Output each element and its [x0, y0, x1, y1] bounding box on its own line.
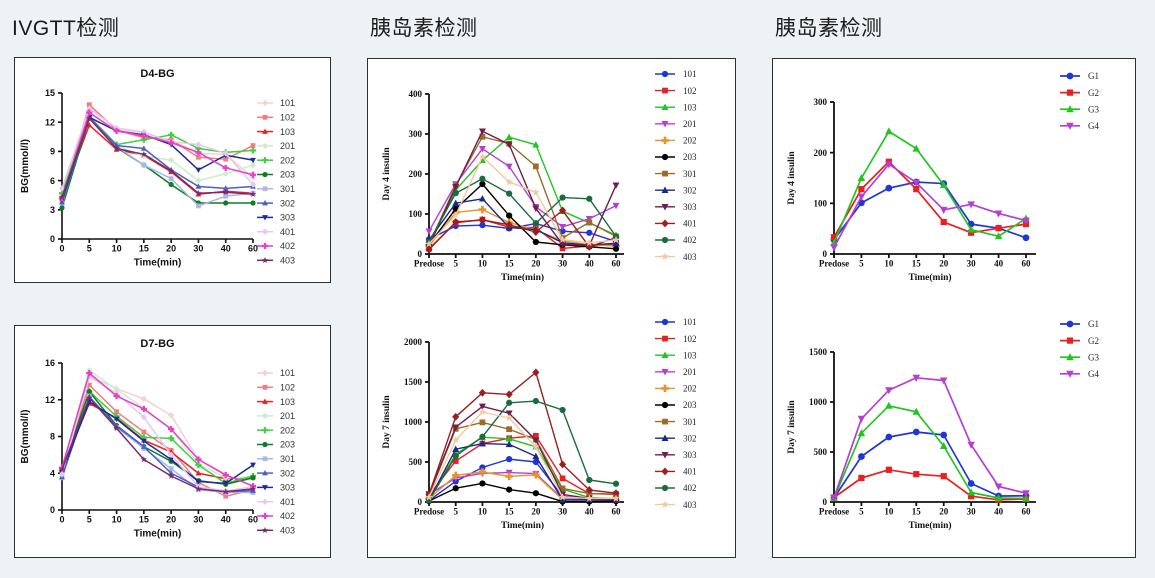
series-line: [834, 432, 1026, 498]
series-marker: [559, 407, 565, 413]
y-axis-tick: 6: [50, 176, 55, 186]
legend-marker: [661, 385, 668, 392]
legend-marker: [262, 427, 268, 433]
series-marker: [506, 190, 512, 196]
y-axis-tick: 8: [50, 432, 55, 442]
legend-marker: [263, 385, 268, 390]
series-marker: [913, 186, 919, 192]
x-axis-tick: 15: [912, 259, 922, 269]
y-axis-title: BG(mmol/l): [20, 139, 31, 193]
legend-label[interactable]: 101: [280, 368, 295, 378]
series-marker: [223, 165, 229, 171]
legend-marker: [662, 402, 668, 408]
legend-marker: [262, 243, 268, 249]
legend-label[interactable]: 203: [683, 152, 697, 162]
y-axis-tick: 0: [50, 234, 55, 244]
chart-day4-insulin-group: 0100200300Predose5101520304060Time(min)D…: [772, 58, 1136, 308]
legend-label[interactable]: 302: [280, 468, 295, 478]
legend-label[interactable]: 403: [683, 500, 697, 510]
legend-label[interactable]: 301: [683, 417, 697, 427]
legend-marker: [1067, 73, 1074, 80]
y-axis-title: Day 7 insulin: [382, 395, 392, 449]
x-axis-tick: 20: [939, 259, 949, 269]
legend-label[interactable]: 302: [683, 433, 697, 443]
x-axis-tick: 15: [139, 515, 149, 525]
legend-label[interactable]: 203: [280, 170, 295, 180]
x-axis-tick: 15: [912, 507, 922, 517]
legend-label[interactable]: G3: [1088, 104, 1099, 114]
chart-d7-bg: D7-BG048121605101520304060Time(min)BG(mm…: [14, 325, 331, 558]
series-marker: [913, 471, 919, 477]
legend-marker: [662, 336, 668, 342]
legend-marker: [263, 456, 268, 461]
y-axis-tick: 12: [45, 117, 55, 127]
series-marker: [505, 473, 512, 480]
y-axis-tick: 16: [45, 358, 55, 368]
series-marker: [886, 467, 892, 473]
legend-label[interactable]: 102: [280, 383, 295, 393]
legend-label[interactable]: 303: [683, 450, 697, 460]
x-axis-tick: 5: [859, 507, 864, 517]
series-marker: [858, 475, 864, 481]
x-axis-tick: 30: [558, 507, 568, 517]
legend-marker: [1067, 337, 1073, 343]
x-axis-tick: 10: [884, 507, 894, 517]
x-axis-tick: Predose: [819, 507, 849, 517]
legend-label[interactable]: 303: [280, 483, 295, 493]
x-axis-tick: Predose: [819, 259, 849, 269]
series-marker: [858, 416, 866, 423]
y-axis-title: Day 7 insulin: [787, 400, 797, 454]
series-marker: [613, 182, 620, 188]
legend-label[interactable]: 401: [280, 227, 295, 237]
legend-label[interactable]: 101: [280, 98, 295, 108]
legend-label[interactable]: 202: [280, 155, 295, 165]
legend-label[interactable]: 302: [280, 198, 295, 208]
legend-marker: [262, 228, 268, 235]
x-axis-title: Time(min): [134, 258, 182, 269]
x-axis-tick: 30: [193, 515, 203, 525]
series-marker: [141, 430, 146, 435]
series-marker: [885, 402, 893, 409]
series-marker: [169, 182, 174, 187]
x-axis-tick: 5: [453, 507, 458, 517]
legend-label[interactable]: 403: [280, 256, 295, 266]
x-axis-tick: 20: [166, 244, 176, 254]
y-axis-tick: 15: [45, 88, 55, 98]
legend-label[interactable]: 101: [683, 317, 697, 327]
legend-label[interactable]: G4: [1088, 121, 1099, 131]
x-axis-tick: 20: [166, 515, 176, 525]
series-marker: [506, 486, 512, 492]
series-line: [62, 402, 253, 484]
series-marker: [940, 207, 948, 214]
legend-label[interactable]: 401: [683, 467, 697, 477]
series-marker: [586, 220, 592, 226]
series-marker: [560, 476, 566, 482]
series-marker: [506, 212, 512, 218]
series-marker: [479, 176, 485, 182]
x-axis-tick: 10: [112, 244, 122, 254]
series-marker: [223, 200, 228, 205]
series-marker: [885, 185, 892, 192]
column-title-insulin-individual: 胰岛素检测: [370, 12, 478, 42]
series-marker: [223, 170, 229, 177]
legend-marker: [662, 485, 668, 491]
chart-d4-bg: D4-BG0369121505101520304060Time(min)BG(m…: [14, 57, 331, 283]
series-marker: [250, 200, 255, 205]
legend-marker: [1067, 321, 1074, 328]
series-marker: [250, 158, 256, 163]
x-axis-tick: 10: [478, 259, 488, 269]
legend-marker: [662, 319, 668, 325]
x-axis-tick: 10: [112, 515, 122, 525]
legend-marker: [661, 253, 669, 260]
series-marker: [913, 145, 921, 152]
x-axis-tick: Predose: [414, 507, 444, 517]
y-axis-tick: 300: [814, 97, 828, 107]
legend-label[interactable]: 402: [683, 483, 697, 493]
series-marker: [613, 481, 619, 487]
series-marker: [506, 426, 512, 432]
x-axis-tick: 5: [87, 244, 92, 254]
series-marker: [858, 453, 865, 460]
series-marker: [941, 219, 947, 225]
series-marker: [479, 195, 486, 201]
legend-marker: [262, 498, 268, 505]
legend-label[interactable]: 102: [683, 86, 697, 96]
series-marker: [479, 206, 486, 213]
x-axis-tick: 10: [884, 259, 894, 269]
legend-marker: [263, 115, 268, 120]
legend-marker: [662, 237, 668, 243]
x-axis-tick: 10: [478, 507, 488, 517]
x-axis-tick: 15: [505, 507, 514, 517]
y-axis-tick: 1500: [809, 347, 828, 357]
legend-label[interactable]: 103: [280, 127, 295, 137]
x-axis-tick: 20: [531, 259, 541, 269]
series-marker: [250, 463, 256, 468]
x-axis-tick: 40: [221, 244, 231, 254]
legend-label[interactable]: 202: [280, 425, 295, 435]
legend-label[interactable]: 403: [280, 526, 295, 536]
y-axis-tick: 12: [45, 395, 55, 405]
legend-label[interactable]: 102: [280, 113, 295, 123]
y-axis-tick: 9: [50, 147, 55, 157]
chart-title: D4-BG: [140, 68, 174, 80]
legend-label[interactable]: G4: [1088, 369, 1099, 379]
series-marker: [480, 420, 486, 426]
y-axis-title: Day 4 insulin: [787, 151, 797, 205]
y-axis-tick: 500: [409, 457, 423, 467]
legend-label[interactable]: 301: [683, 169, 697, 179]
series-marker: [533, 164, 539, 170]
legend-label[interactable]: 201: [280, 411, 295, 421]
series-marker: [168, 132, 174, 138]
series-marker: [613, 246, 619, 252]
series-marker: [533, 239, 539, 245]
legend-marker: [262, 172, 267, 177]
series-marker: [533, 398, 539, 404]
legend-marker: [661, 219, 668, 227]
series-marker: [858, 186, 864, 192]
x-axis-tick: 60: [612, 259, 622, 269]
legend-label[interactable]: 301: [280, 454, 295, 464]
legend-marker: [662, 154, 668, 160]
series-marker: [941, 473, 947, 479]
legend-marker: [262, 513, 268, 519]
legend-marker: [662, 88, 668, 94]
chart-day7-insulin-group: 050010001500Predose5101520304060Time(min…: [772, 308, 1136, 558]
x-axis-tick: 30: [967, 259, 977, 269]
y-axis-title: Day 4 insulin: [382, 147, 392, 201]
legend-label[interactable]: 103: [683, 350, 697, 360]
column-title-ivgtt: IVGTT检测: [12, 12, 119, 42]
chart-day4-insulin-all: 0100200300400Predose5101520304060Time(mi…: [367, 58, 736, 308]
legend-marker: [262, 413, 268, 420]
legend-label[interactable]: G2: [1088, 88, 1099, 98]
legend-marker: [662, 171, 668, 177]
legend-label[interactable]: 403: [683, 252, 697, 262]
x-axis-title: Time(min): [134, 529, 182, 540]
x-axis-tick: 5: [87, 515, 92, 525]
column-title-insulin-group: 胰岛素检测: [775, 12, 883, 42]
x-axis-title: Time(min): [501, 520, 544, 531]
x-axis-tick: 30: [558, 259, 568, 269]
x-axis-tick: 40: [994, 259, 1004, 269]
series-marker: [453, 453, 459, 459]
x-axis-tick: 20: [939, 507, 949, 517]
series-marker: [87, 389, 92, 394]
legend-marker: [262, 257, 268, 263]
legend-marker: [661, 467, 668, 475]
legend-label[interactable]: 101: [683, 69, 697, 79]
legend-label[interactable]: 401: [280, 497, 295, 507]
y-axis-tick: 100: [409, 209, 423, 219]
legend-marker: [262, 527, 268, 533]
legend-label[interactable]: 202: [683, 136, 697, 146]
series-marker: [533, 490, 539, 496]
legend-label[interactable]: 301: [280, 184, 295, 194]
legend-label[interactable]: 302: [683, 185, 697, 195]
legend-marker: [1067, 89, 1073, 95]
legend-label[interactable]: 402: [280, 241, 295, 251]
series-marker: [586, 477, 592, 483]
legend-label[interactable]: 203: [280, 440, 295, 450]
x-axis-tick: 30: [967, 507, 977, 517]
x-axis-tick: 60: [612, 507, 622, 517]
x-axis-title: Time(min): [908, 520, 951, 531]
series-marker: [559, 194, 565, 200]
legend-label[interactable]: 201: [683, 367, 697, 377]
legend-label[interactable]: 402: [280, 511, 295, 521]
series-marker: [968, 480, 975, 487]
y-axis-tick: 200: [814, 148, 828, 158]
series-marker: [196, 155, 201, 160]
legend-marker: [262, 100, 268, 107]
legend-label[interactable]: G3: [1088, 352, 1099, 362]
series-marker: [479, 480, 485, 486]
x-axis-title: Time(min): [908, 272, 951, 283]
legend-marker: [662, 71, 668, 77]
series-marker: [885, 434, 892, 441]
x-axis-title: Time(min): [501, 272, 544, 283]
series-marker: [1023, 234, 1030, 241]
legend-marker: [263, 186, 268, 191]
series-marker: [250, 147, 256, 153]
chart-day7-insulin-all: 0500100015002000Predose5101520304060Time…: [367, 308, 736, 558]
legend-label[interactable]: 303: [280, 213, 295, 223]
x-axis-tick: 60: [1022, 259, 1032, 269]
x-axis-tick: 60: [248, 515, 258, 525]
legend-label[interactable]: G1: [1088, 71, 1099, 81]
series-marker: [453, 485, 459, 491]
legend-label[interactable]: 103: [280, 397, 295, 407]
series-marker: [250, 475, 255, 480]
series-marker: [453, 190, 459, 196]
series-marker: [533, 220, 539, 226]
series-marker: [940, 432, 947, 439]
x-axis-tick: 40: [585, 259, 595, 269]
legend-label[interactable]: 201: [280, 141, 295, 151]
y-axis-tick: 100: [814, 199, 828, 209]
x-axis-tick: 20: [531, 507, 541, 517]
x-axis-tick: 15: [139, 244, 149, 254]
series-marker: [532, 188, 540, 195]
series-marker: [141, 396, 147, 403]
series-marker: [195, 149, 201, 155]
x-axis-tick: 40: [994, 507, 1004, 517]
series-marker: [426, 228, 433, 234]
x-axis-tick: 0: [59, 244, 64, 254]
series-marker: [506, 456, 512, 462]
series-marker: [586, 196, 592, 202]
x-axis-tick: 60: [248, 244, 258, 254]
series-marker: [913, 429, 920, 436]
series-marker: [479, 434, 485, 440]
legend-label[interactable]: G2: [1088, 336, 1099, 346]
series-marker: [586, 230, 592, 236]
series-marker: [59, 205, 64, 210]
series-marker: [169, 176, 174, 181]
y-axis-tick: 400: [409, 89, 423, 99]
x-axis-tick: Predose: [414, 259, 444, 269]
legend-marker: [661, 501, 669, 508]
series-marker: [196, 204, 201, 209]
x-axis-tick: 30: [193, 244, 203, 254]
y-axis-tick: 0: [50, 505, 55, 515]
legend-marker: [262, 143, 268, 150]
series-marker: [858, 194, 866, 201]
series-marker: [830, 244, 838, 251]
series-marker: [995, 225, 1001, 231]
y-axis-tick: 1000: [809, 397, 828, 407]
legend-marker: [661, 137, 668, 144]
series-marker: [251, 143, 256, 148]
series-marker: [196, 168, 202, 173]
x-axis-tick: 60: [1022, 507, 1032, 517]
series-marker: [885, 127, 893, 134]
series-marker: [506, 400, 512, 406]
y-axis-tick: 2000: [404, 337, 423, 347]
legend-label[interactable]: 303: [683, 202, 697, 212]
legend-label[interactable]: 103: [683, 102, 697, 112]
legend-label[interactable]: 201: [683, 119, 697, 129]
legend-marker: [662, 419, 668, 425]
legend-marker: [262, 157, 268, 163]
legend-marker: [262, 442, 267, 447]
y-axis-tick: 1000: [404, 417, 423, 427]
series-marker: [141, 163, 146, 168]
legend-label[interactable]: 402: [683, 235, 697, 245]
legend-label[interactable]: 202: [683, 384, 697, 394]
x-axis-tick: 40: [221, 515, 231, 525]
legend-label[interactable]: G1: [1088, 319, 1099, 329]
y-axis-tick: 3: [50, 205, 55, 215]
y-axis-tick: 500: [814, 447, 828, 457]
y-axis-tick: 1500: [404, 377, 423, 387]
y-axis-tick: 200: [409, 169, 423, 179]
legend-label[interactable]: 203: [683, 400, 697, 410]
x-axis-tick: 5: [453, 259, 458, 269]
legend-label[interactable]: 401: [683, 219, 697, 229]
legend-marker: [262, 370, 268, 377]
y-axis-tick: 300: [409, 129, 423, 139]
x-axis-tick: 40: [585, 507, 595, 517]
x-axis-tick: 5: [859, 259, 864, 269]
y-axis-title: BG(mmol/l): [20, 410, 31, 464]
legend-label[interactable]: 102: [683, 334, 697, 344]
series-marker: [506, 133, 513, 139]
x-axis-tick: 0: [59, 515, 64, 525]
chart-title: D7-BG: [140, 338, 174, 350]
y-axis-tick: 4: [50, 468, 55, 478]
x-axis-tick: 15: [505, 259, 514, 269]
